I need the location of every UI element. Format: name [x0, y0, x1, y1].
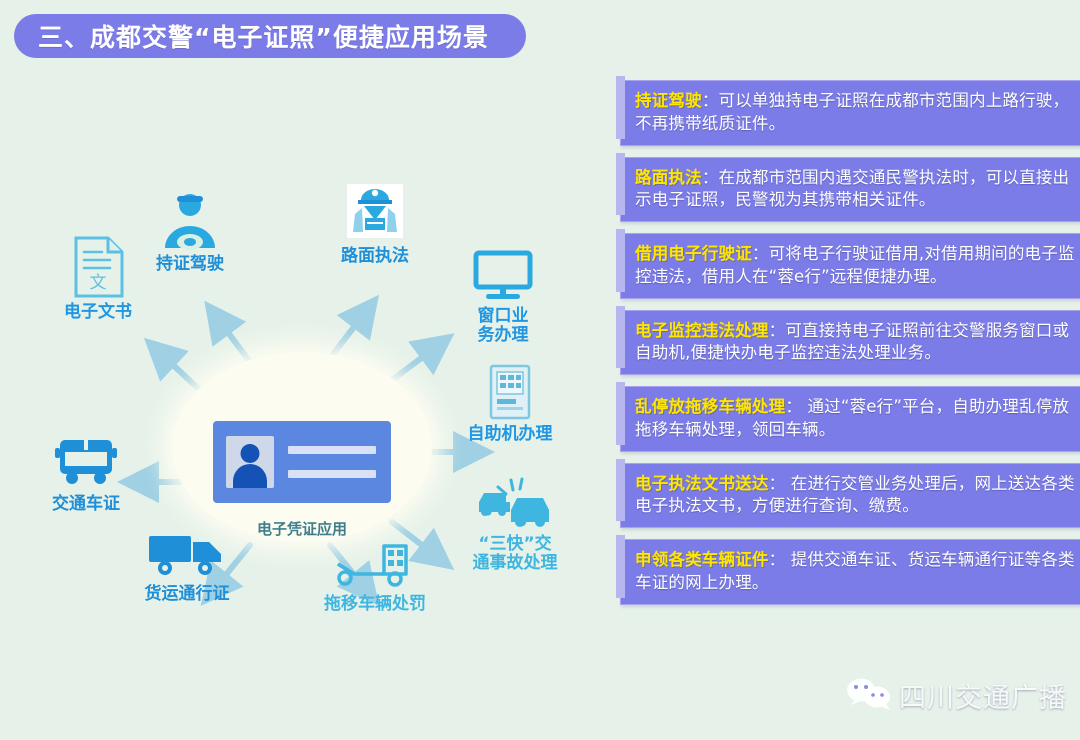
watermark: 四川交通广播	[846, 676, 1067, 715]
scenario-card[interactable]: 乱停放拖移车辆处理： 通过“蓉e行”平台，自助办理乱停放拖移车辆处理，领回车辆。	[620, 386, 1080, 452]
scenario-separator: ：	[702, 168, 719, 187]
scenario-card-list: 持证驾驶：可以单独持电子证照在成都市范围内上路行驶，不再携带纸质证件。 路面执法…	[620, 80, 1080, 616]
monitor-icon	[438, 244, 568, 302]
scenario-separator: ：	[785, 397, 802, 416]
scenario-card[interactable]: 借用电子行驶证：可将电子行驶证借用,对借用期间的电子监控违法，借用人在“蓉e行”…	[620, 233, 1080, 299]
slide-canvas: 三、成都交警“电子证照”便捷应用场景	[0, 0, 1080, 740]
two-cars-collision-icon	[440, 472, 590, 530]
section-title-banner: 三、成都交警“电子证照”便捷应用场景	[14, 14, 526, 58]
node-zizhuji-banli[interactable]: 自助机办理	[440, 362, 580, 444]
tow-truck-icon	[300, 532, 450, 590]
svg-text:文: 文	[90, 273, 107, 293]
scenario-separator: ：	[769, 321, 786, 340]
scenario-key: 申领各类车辆证件	[635, 550, 769, 569]
node-huoyun-tongxing[interactable]: 货运通行证	[112, 522, 262, 604]
kiosk-icon	[440, 362, 580, 420]
node-label: 交通车证	[16, 495, 156, 514]
scenario-card[interactable]: 电子执法文书送达： 在进行交管业务处理后，网上送达各类电子执法文书，方便进行查询…	[620, 463, 1080, 529]
radial-diagram: 电子凭证应用 持证驾驶	[0, 62, 615, 740]
scenario-separator: ：	[769, 550, 786, 569]
node-lumian-zhifa[interactable]: 路面执法	[305, 184, 445, 266]
document-icon: 文	[28, 240, 168, 298]
page-title: 三、成都交警“电子证照”便捷应用场景	[14, 18, 489, 54]
id-card-icon	[213, 421, 391, 503]
scenario-separator: ：	[769, 474, 786, 493]
node-label: 拖移车辆处罚	[300, 595, 450, 614]
scenario-card[interactable]: 申领各类车辆证件： 提供交通车证、货运车辆通行证等各类车证的网上办理。	[620, 539, 1080, 605]
node-label: 路面执法	[305, 247, 445, 266]
node-chuangkou-yewu[interactable]: 窗口业 务办理	[438, 244, 568, 345]
node-label: “三快”交 通事故处理	[440, 535, 590, 573]
node-label: 窗口业 务办理	[438, 307, 568, 345]
node-label: 电子文书	[28, 303, 168, 322]
scenario-card[interactable]: 持证驾驶：可以单独持电子证照在成都市范围内上路行驶，不再携带纸质证件。	[620, 80, 1080, 146]
scenario-key: 电子监控违法处理	[635, 321, 769, 340]
node-label: 自助机办理	[440, 425, 580, 444]
scenario-card[interactable]: 路面执法：在成都市范围内遇交通民警执法时，可以直接出示电子证照，民警视为其携带相…	[620, 157, 1080, 223]
police-officer-icon	[305, 184, 445, 242]
scenario-key: 借用电子行驶证	[635, 244, 752, 263]
node-dianzi-wenshu[interactable]: 文 电子文书	[28, 240, 168, 322]
scenario-key: 持证驾驶	[635, 91, 702, 110]
node-tuoyi-chufa[interactable]: 拖移车辆处罚	[300, 532, 450, 614]
scenario-key: 路面执法	[635, 168, 702, 187]
watermark-label: 四川交通广播	[899, 676, 1067, 715]
scenario-card[interactable]: 电子监控违法处理：可直接持电子证照前往交警服务窗口或自助机,便捷快办电子监控违法…	[620, 310, 1080, 376]
bus-icon	[16, 432, 156, 490]
id-photo-icon	[226, 436, 274, 488]
scenario-separator: ：	[702, 91, 719, 110]
node-label: 货运通行证	[112, 585, 262, 604]
node-sankuai-shigu[interactable]: “三快”交 通事故处理	[440, 472, 590, 573]
scenario-key: 电子执法文书送达	[635, 474, 769, 493]
scenario-separator: ：	[752, 244, 769, 263]
scenario-key: 乱停放拖移车辆处理	[635, 397, 785, 416]
wechat-icon	[846, 677, 892, 715]
cargo-truck-icon	[112, 522, 262, 580]
id-card-lines	[288, 446, 376, 478]
node-jiaotong-chezheng[interactable]: 交通车证	[16, 432, 156, 514]
